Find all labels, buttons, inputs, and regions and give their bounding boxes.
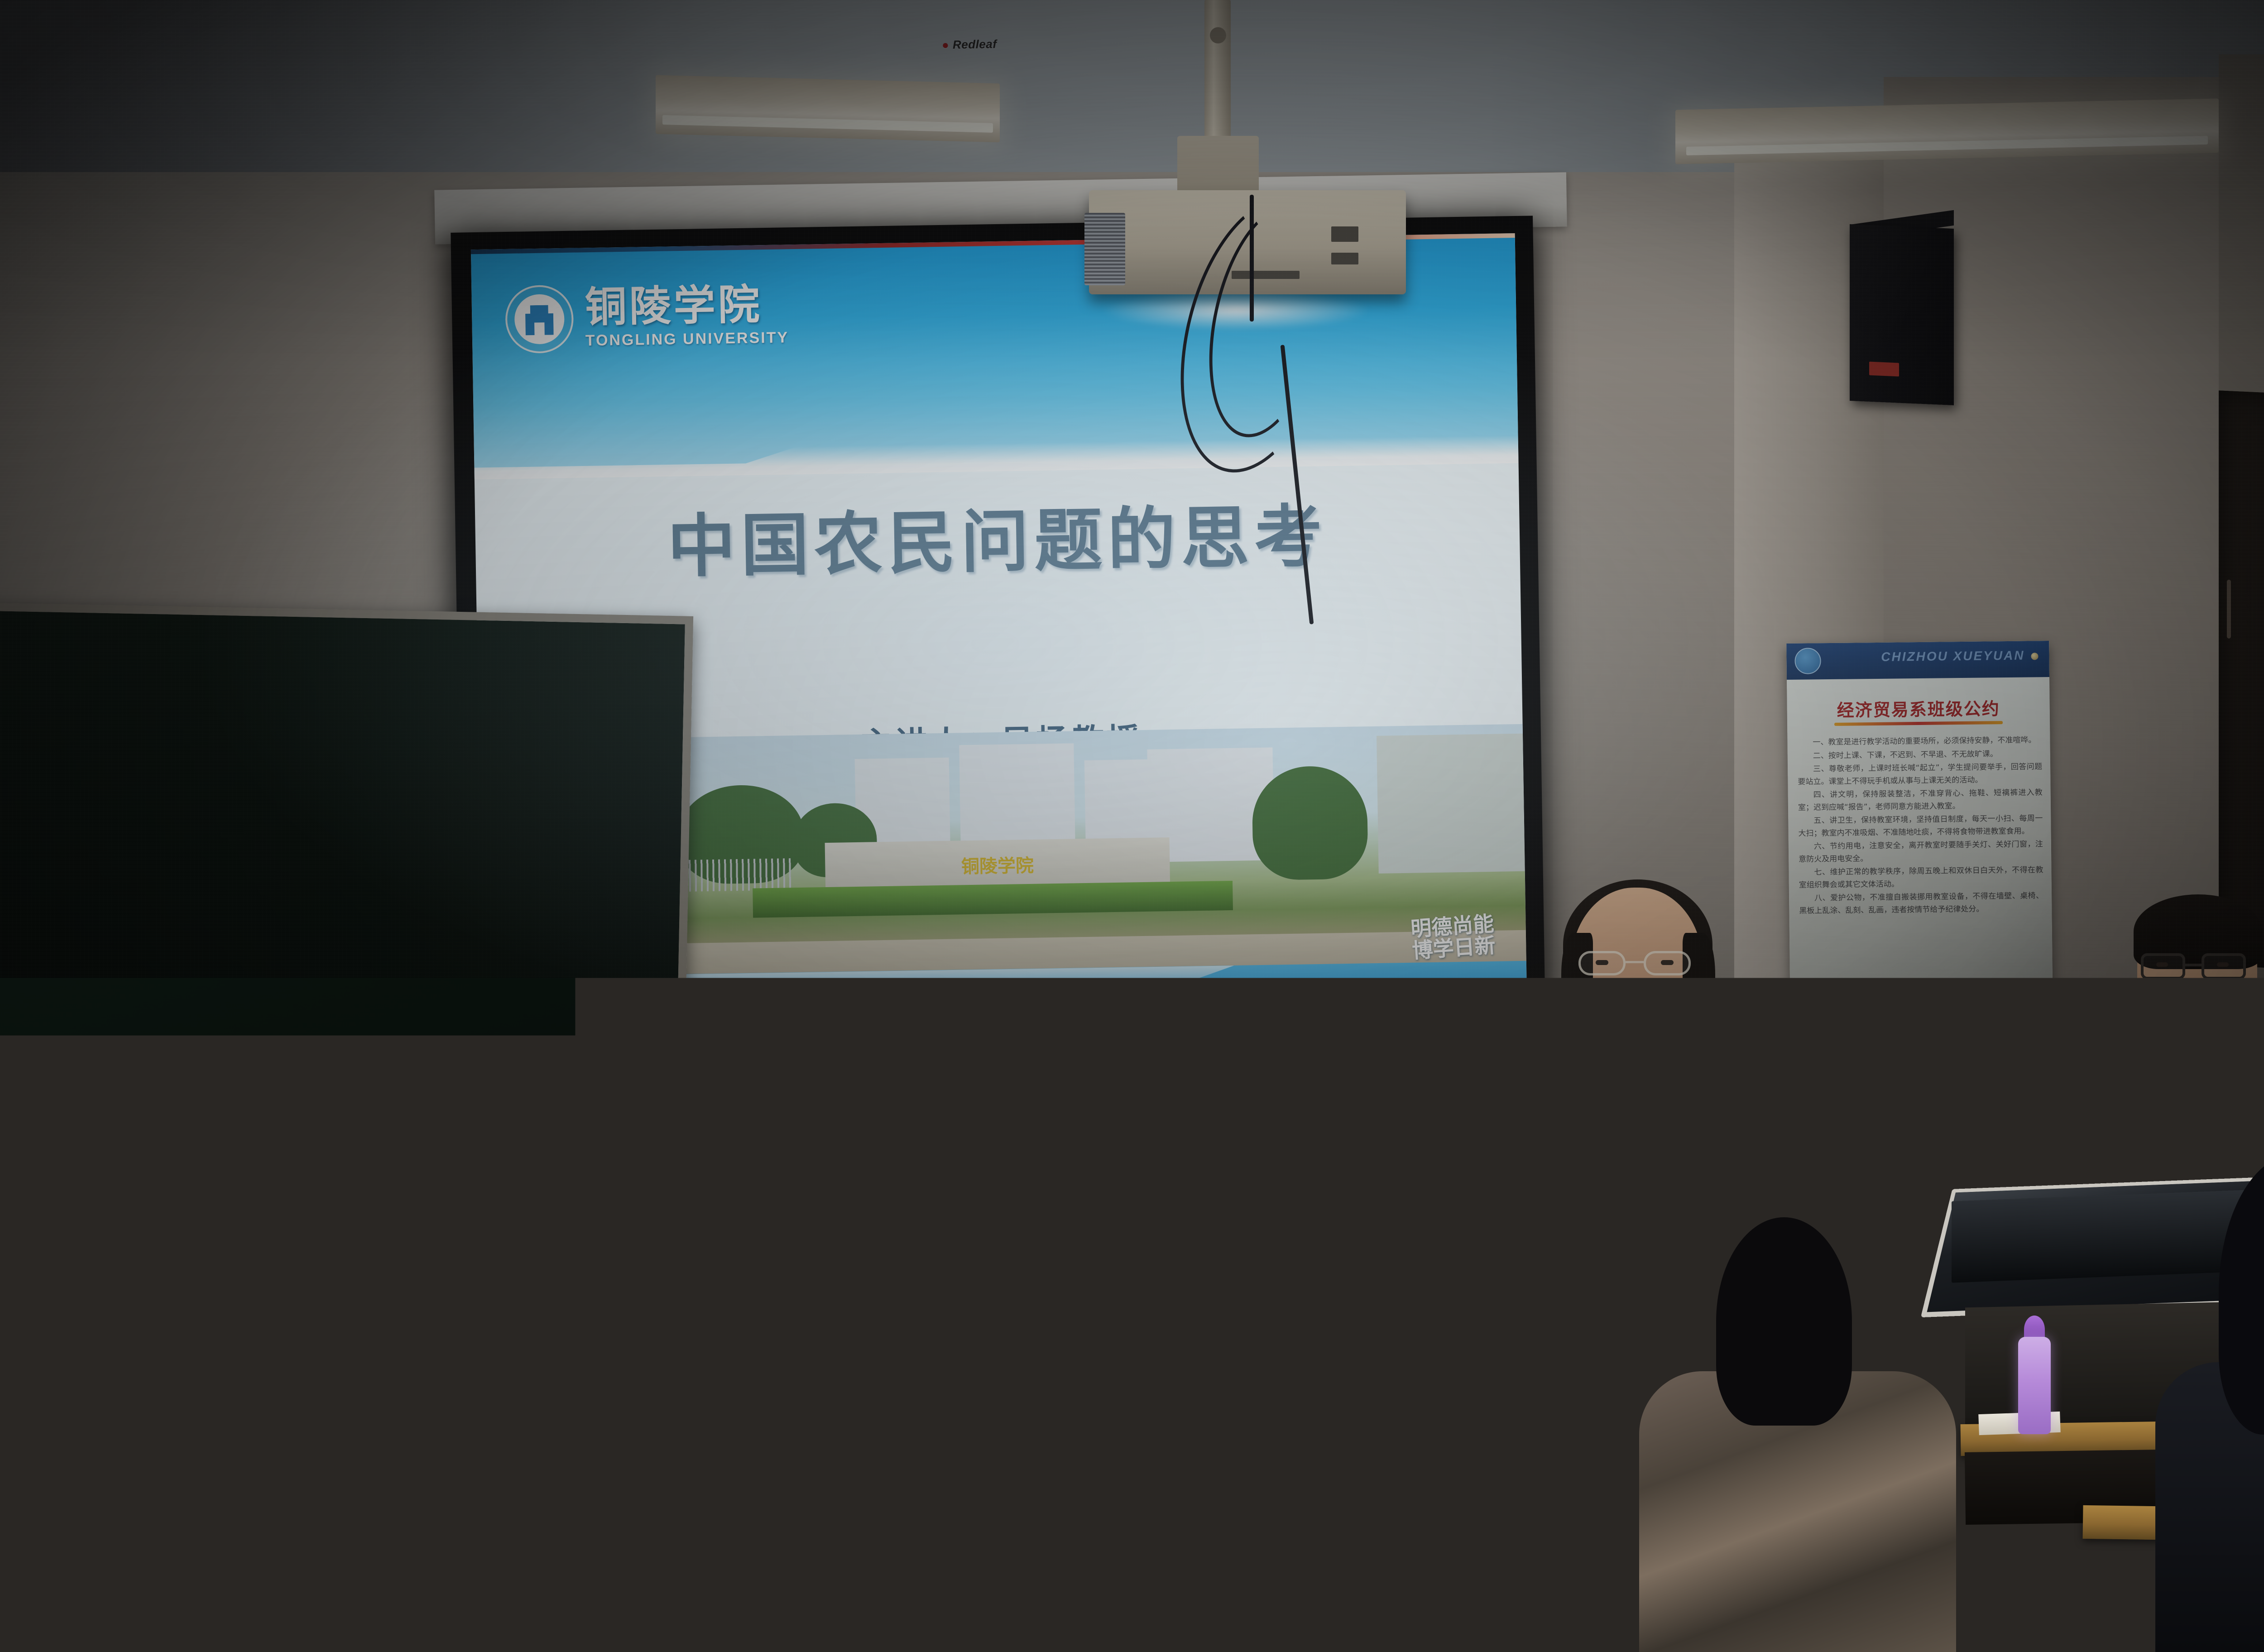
chalk-eraser (414, 1111, 489, 1132)
cardigan-button-2 (1630, 1413, 1639, 1422)
chalkboard (0, 602, 693, 1150)
right-door[interactable] (2219, 390, 2264, 972)
poster-rule: 一、教室是进行教学活动的重要场所，必须保持安静，不准喧哗。 (1797, 734, 2042, 749)
presenter-hair-right (1683, 933, 1715, 1037)
speaker-brand-label (1869, 362, 1899, 377)
presenter-hair-left (1561, 933, 1593, 1037)
university-name-en: TONGLING UNIVERSITY (585, 329, 789, 350)
poster-rule: 七、维护正常的教学秩序，除周五晚上和双休日白天外，不得在教室组织舞会或其它文体活… (1799, 864, 2043, 892)
wall-speaker (1850, 224, 1954, 405)
fluorescent-light-icon-2 (1675, 98, 2219, 164)
host-mouth (2173, 1009, 2208, 1015)
motto-line-2: 博学日新 (1411, 934, 1496, 962)
presenter-glasses-bridge (1626, 961, 1644, 963)
poster-rule: 五、讲卫生，保持教室环境，坚持值日制度，每天一小扫、每周一大扫；教室内不准吸烟、… (1798, 812, 2043, 840)
poster-title-underline (1834, 721, 2002, 726)
poster-footer-note: 池州学院经济贸易系 (1980, 1042, 2041, 1052)
campus-hedge (753, 880, 1233, 917)
poster-screw-top-right (2031, 653, 2038, 660)
brand-name: Redleaf (953, 37, 997, 52)
university-name-cn: 铜陵学院 (585, 284, 789, 329)
projector-port-2 (1331, 253, 1358, 264)
poster-seal-icon (1794, 648, 1821, 674)
poster-title: 经济贸易系班级公约 (1787, 694, 2050, 722)
fluorescent-light-icon (656, 75, 1000, 143)
poster-rule-list: 一、教室是进行教学活动的重要场所，必须保持安静，不准喧哗。 二、按时上课、下课，… (1797, 734, 2043, 918)
poster-rule: 三、尊敬老师，上课时班长喊“起立”，学生提问要举手，回答问题要站立。课堂上不得玩… (1798, 761, 2043, 788)
poster-rule: 二、按时上课、下课，不迟到、不早退、不无故旷课。 (1798, 748, 2042, 763)
screen-brand-label: ● Redleaf (942, 37, 997, 52)
door-handle[interactable] (2227, 580, 2231, 639)
poster-rule: 四、讲文明，保持服装整洁，不准穿背心、拖鞋、短褵裤进入教室；迟到应喊“报告”，老… (1798, 787, 2043, 814)
host-glasses-right-lens (2202, 953, 2246, 980)
poster-rule: 六、节约用电，注意安全，离开教室时要随手关灯、关好门窗，注意防火及用电安全。 (1799, 838, 2043, 866)
lecture-hall-scene: ● Redleaf 铜陵学院 TONGLING UNIVERSITY (0, 0, 2264, 1652)
university-motto: 明德尚能 博学日新 (1410, 912, 1496, 962)
university-logo: 铜陵学院 TONGLING UNIVERSITY (505, 281, 789, 354)
slide-band-swoosh (474, 435, 1519, 480)
wall-outlet[interactable] (1435, 1481, 1471, 1509)
projector-mount-pole (1204, 0, 1231, 149)
cardigan-button-1 (1630, 1340, 1639, 1349)
brand-dot-icon: ● (942, 38, 950, 52)
poster-footer-bar: 池州学院经济贸易系 (1790, 1037, 2053, 1060)
projector-vent-icon (1084, 213, 1125, 285)
presenter-glasses-right-lens (1644, 951, 1691, 975)
projector-port-1 (1331, 226, 1358, 242)
water-bottle (2018, 1337, 2051, 1434)
lectern-monitor[interactable] (1952, 1190, 2250, 1282)
projector-cable-drop-2 (1250, 195, 1254, 322)
host-glasses-left-lens (2141, 953, 2185, 980)
university-seal-icon (505, 285, 574, 354)
floor-cable (1447, 1499, 1499, 1593)
wall-poster-class-rules: CHIZHOU XUEYUAN 经济贸易系班级公约 一、教室是进行教学活动的重要… (1786, 641, 2053, 1060)
projector-mount-screw (1210, 27, 1226, 43)
poster-rule: 八、爱护公物，不准擅自搬装挪用教室设备，不得在墙壁、桌椅、黑板上乱涂、乱刻、乱画… (1799, 890, 2044, 918)
projector-bracket (1177, 136, 1259, 199)
host-glasses-bridge (2185, 964, 2202, 966)
seal-gate-icon (525, 305, 554, 335)
presenter-glasses-left-lens (1578, 951, 1626, 975)
wireless-microphone[interactable] (1635, 1273, 1721, 1318)
microphone-cord (1635, 1014, 1684, 1295)
poster-header-english: CHIZHOU XUEYUAN (1881, 648, 2025, 664)
slide-title: 中国农民问题的思考 (475, 479, 1520, 593)
jacket-text: FOREUES (507, 1500, 652, 1634)
